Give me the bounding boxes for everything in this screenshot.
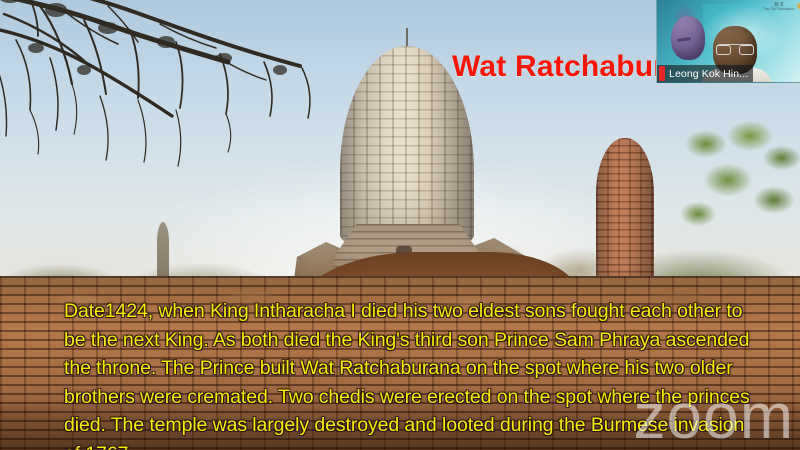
microphone-muted-icon[interactable]	[659, 66, 665, 81]
org-logo-watermark: 慈济 Tzu Chi Foundation	[764, 3, 795, 11]
participant-video-tile[interactable]: 慈济 Tzu Chi Foundation Leong Kok Hin...	[656, 0, 800, 83]
zoom-watermark: zoom	[634, 384, 795, 448]
slide-screen: Wat Ratchaburana Date1424, when King Int…	[0, 0, 800, 450]
participant-name-bar: Leong Kok Hin...	[657, 65, 753, 82]
green-tree	[678, 122, 800, 272]
glasses-icon	[716, 44, 754, 54]
buddha-image-icon	[659, 2, 721, 74]
participant-name-label: Leong Kok Hin...	[669, 68, 748, 80]
org-logo-line2: Tzu Chi Foundation	[764, 8, 795, 11]
